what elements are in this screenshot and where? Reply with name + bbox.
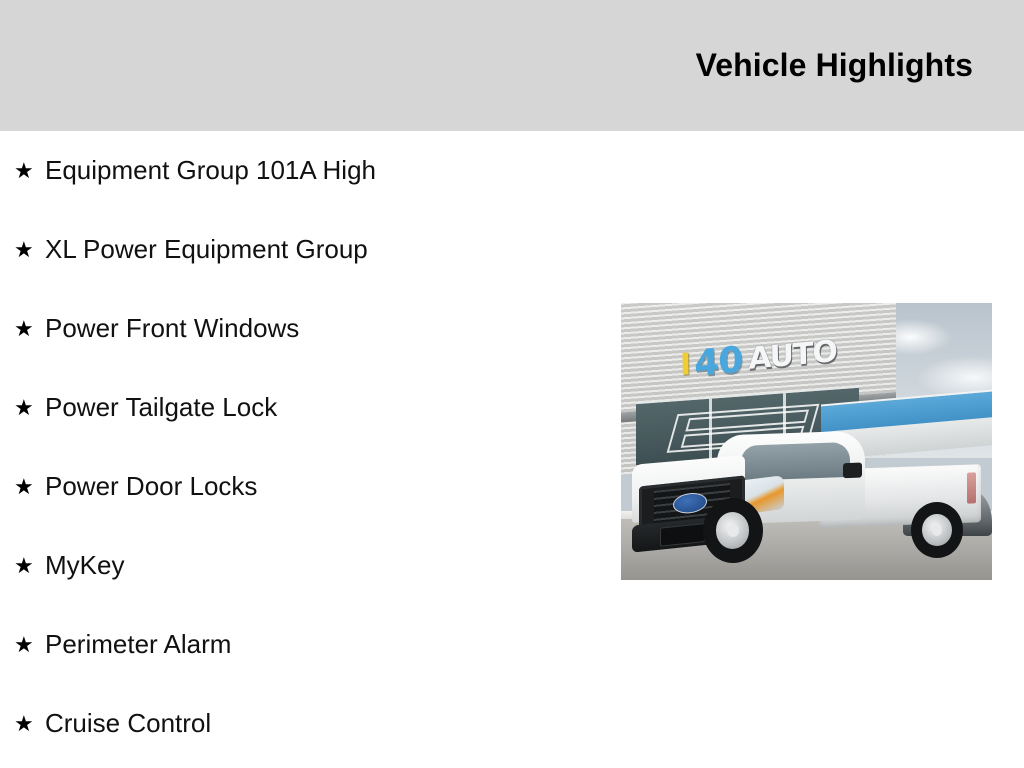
star-icon: ★ [14, 555, 45, 577]
photo-scene: I 40 AUTO [621, 303, 992, 580]
list-item: ★ MyKey [0, 526, 600, 605]
highlight-label: Power Door Locks [45, 471, 257, 502]
ford-f150-truck [632, 392, 984, 564]
highlight-label: MyKey [45, 550, 124, 581]
highlight-label: Power Tailgate Lock [45, 392, 277, 423]
wheel-rim [716, 512, 750, 549]
list-item: ★ Equipment Group 101A High [0, 131, 600, 210]
wheel-rim [922, 514, 952, 546]
star-icon: ★ [14, 476, 45, 498]
star-icon: ★ [14, 713, 45, 735]
star-icon: ★ [14, 160, 45, 182]
list-item: ★ Perimeter Alarm [0, 605, 600, 684]
list-item: ★ Power Door Locks [0, 447, 600, 526]
page-header: Vehicle Highlights [0, 0, 1024, 131]
vehicle-photo: I 40 AUTO [621, 303, 992, 580]
tail-light [966, 473, 976, 504]
star-icon: ★ [14, 318, 45, 340]
highlight-label: Perimeter Alarm [45, 629, 231, 660]
highlight-label: Cruise Control [45, 708, 211, 739]
star-icon: ★ [14, 634, 45, 656]
highlight-label: Equipment Group 101A High [45, 155, 376, 186]
page-title: Vehicle Highlights [696, 47, 973, 84]
side-mirror [843, 463, 862, 479]
star-icon: ★ [14, 397, 45, 419]
sign-number-40: 40 [694, 343, 743, 383]
license-plate-bracket [660, 523, 705, 547]
list-item: ★ XL Power Equipment Group [0, 210, 600, 289]
sign-word-auto: AUTO [748, 338, 837, 376]
highlight-label: XL Power Equipment Group [45, 234, 368, 265]
star-icon: ★ [14, 239, 45, 261]
rear-wheel [911, 502, 964, 559]
highlight-label: Power Front Windows [45, 313, 299, 344]
list-item: ★ Cruise Control [0, 684, 600, 763]
front-wheel [703, 498, 763, 563]
sign-letter-i: I [680, 351, 692, 382]
vehicle-highlights-list: ★ Equipment Group 101A High ★ XL Power E… [0, 131, 600, 763]
list-item: ★ Power Front Windows [0, 289, 600, 368]
list-item: ★ Power Tailgate Lock [0, 368, 600, 447]
cab-window [740, 442, 850, 482]
